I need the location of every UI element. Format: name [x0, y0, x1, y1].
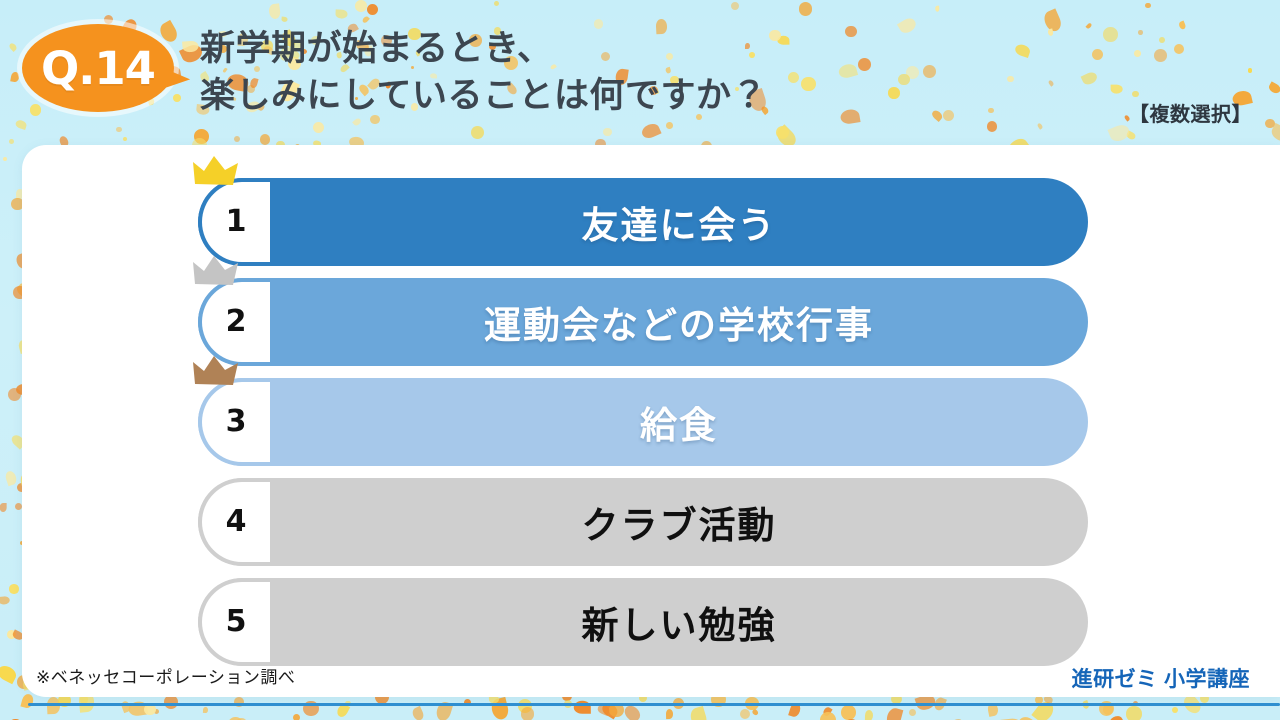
rank-item-label: 給食 [270, 378, 1088, 466]
brand-logo: 進研ゼミ 小学講座 [1072, 663, 1250, 693]
ranking-row[interactable]: 3給食 [198, 378, 1088, 466]
confetti-dot [1154, 49, 1167, 62]
confetti-dot [123, 137, 127, 141]
confetti-dot [1248, 68, 1253, 73]
confetti-petal [1267, 82, 1280, 96]
confetti-petal [14, 119, 27, 130]
confetti-dot [731, 2, 740, 11]
confetti-dot [173, 94, 181, 102]
rank-item-label: 運動会などの学校行事 [270, 278, 1088, 366]
confetti-petal [822, 706, 833, 717]
confetti-dot [260, 134, 270, 144]
confetti-petal [688, 706, 708, 720]
confetti-petal [885, 706, 904, 720]
confetti-petal [865, 709, 873, 720]
confetti-petal [0, 503, 7, 512]
confetti-petal [1036, 122, 1043, 130]
confetti-petal [1269, 123, 1280, 144]
confetti-dot [1132, 91, 1138, 97]
rank-number-label: 1 [226, 207, 247, 237]
rank-number-badge: 2 [198, 278, 270, 366]
confetti-petal [20, 693, 34, 710]
rank-number-label: 3 [226, 407, 247, 437]
bronze-crown-icon [192, 354, 242, 390]
rank-item-label: 友達に会う [270, 178, 1088, 266]
confetti-petal [751, 709, 759, 717]
confetti-petal [1031, 698, 1057, 720]
confetti-dot [1126, 706, 1142, 720]
confetti-dot [1134, 50, 1141, 57]
confetti-dot [234, 136, 240, 142]
confetti-petal [1107, 714, 1125, 720]
confetti-petal [666, 708, 673, 718]
confetti-petal [10, 71, 20, 83]
confetti-dot [820, 712, 836, 720]
confetti-dot [799, 2, 813, 16]
gold-crown-icon [192, 154, 242, 190]
confetti-dot [841, 705, 856, 720]
confetti-dot [7, 630, 16, 639]
confetti-dot [8, 388, 21, 401]
confetti-dot [1103, 27, 1118, 42]
confetti-dot [1145, 3, 1151, 9]
rank-number-label: 2 [226, 307, 247, 337]
ranking-row[interactable]: 5新しい勉強 [198, 578, 1088, 666]
confetti-dot [9, 139, 14, 144]
confetti-dot [494, 1, 500, 7]
confetti-petal [1126, 130, 1137, 140]
confetti-dot [104, 15, 113, 24]
confetti-dot [1159, 37, 1165, 43]
confetti-petal [0, 663, 19, 684]
confetti-petal [490, 696, 511, 720]
confetti-petal [268, 3, 281, 19]
confetti-petal [157, 20, 180, 45]
confetti-petal [1111, 84, 1123, 93]
confetti-petal [935, 6, 940, 12]
confetti-petal [8, 42, 18, 52]
confetti-petal [182, 41, 198, 54]
source-note: ※ベネッセコーポレーション調べ [36, 663, 295, 688]
confetti-dot [987, 121, 998, 132]
rank-number-badge: 5 [198, 578, 270, 666]
confetti-dot [1172, 707, 1178, 713]
speech-bubble-tail-icon [163, 69, 191, 92]
confetti-petal [1015, 714, 1041, 720]
confetti-dot [194, 129, 209, 144]
title-line-2: 楽しみにしていることは何ですか？ [200, 73, 1100, 120]
card-underline [28, 703, 1280, 706]
slide-root: Q.14 新学期が始まるとき、 楽しみにしていることは何ですか？ 【複数選択】 … [0, 0, 1280, 720]
multi-select-badge: 【複数選択】 [1129, 98, 1252, 127]
silver-crown-icon [192, 254, 242, 290]
confetti-dot [909, 709, 916, 716]
confetti-dot [9, 584, 18, 593]
rank-number-badge: 3 [198, 378, 270, 466]
rank-number-label: 5 [226, 607, 247, 637]
confetti-dot [603, 128, 611, 136]
rank-number-badge: 1 [198, 178, 270, 266]
confetti-dot [355, 0, 367, 12]
confetti-dot [666, 122, 673, 129]
title-line-1: 新学期が始まるとき、 [200, 29, 553, 68]
question-number-badge: Q.14 [22, 24, 174, 112]
confetti-petal [281, 17, 288, 22]
page-title: 新学期が始まるとき、 楽しみにしていることは何ですか？ [200, 26, 1100, 119]
question-number-label: Q.14 [41, 42, 155, 95]
confetti-petal [410, 706, 425, 720]
rank-number-label: 4 [226, 507, 247, 537]
rank-item-label: 新しい勉強 [270, 578, 1088, 666]
ranking-list: 1友達に会う2運動会などの学校行事3給食4クラブ活動5新しい勉強 [198, 178, 1088, 678]
confetti-dot [116, 127, 122, 133]
confetti-petal [1178, 20, 1187, 30]
confetti-dot [154, 709, 159, 714]
confetti-dot [30, 104, 42, 116]
confetti-dot [521, 707, 534, 720]
confetti-petal [5, 470, 19, 486]
rank-number-badge: 4 [198, 478, 270, 566]
ranking-row[interactable]: 1友達に会う [198, 178, 1088, 266]
confetti-petal [0, 595, 11, 604]
confetti-dot [3, 157, 7, 161]
ranking-row[interactable]: 2運動会などの学校行事 [198, 278, 1088, 366]
confetti-dot [776, 126, 789, 139]
confetti-petal [203, 707, 208, 713]
confetti-dot [1174, 44, 1184, 54]
confetti-petal [336, 9, 348, 18]
confetti-dot [367, 4, 378, 15]
rank-item-label: クラブ活動 [270, 478, 1088, 566]
confetti-dot [313, 122, 324, 133]
ranking-row[interactable]: 4クラブ活動 [198, 478, 1088, 566]
confetti-petal [640, 121, 662, 140]
confetti-dot [1265, 119, 1275, 129]
confetti-dot [1138, 30, 1143, 35]
confetti-dot [471, 126, 484, 139]
confetti-petal [361, 15, 370, 24]
confetti-dot [740, 709, 750, 719]
confetti-dot [293, 714, 300, 720]
